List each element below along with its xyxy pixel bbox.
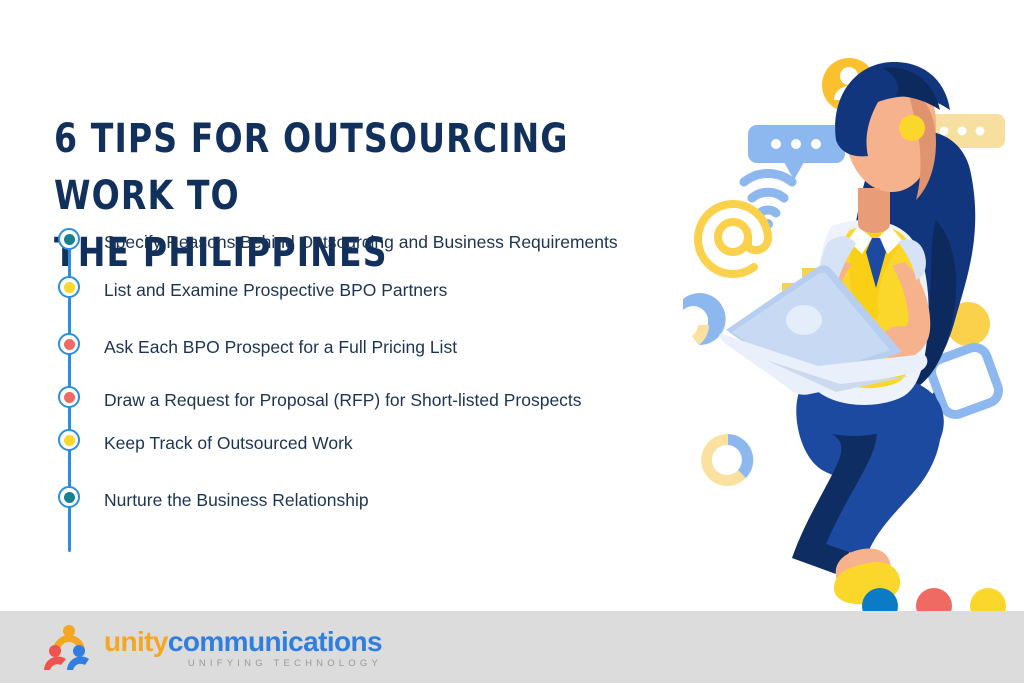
timeline-bullet-wrapper (54, 429, 84, 451)
brand-word-unity: unity (104, 626, 168, 657)
list-item-label: Keep Track of Outsourced Work (104, 429, 353, 457)
timeline-bullet-1[interactable] (58, 228, 80, 250)
unity-logo-mark-icon (44, 625, 94, 671)
timeline-bullet-6[interactable] (58, 486, 80, 508)
brand-logo-text: unitycommunications UNIFYING TECHNOLOGY (104, 627, 382, 669)
bullet-dot-icon (64, 492, 75, 503)
at-sign-icon (698, 204, 768, 274)
list-item-label: Ask Each BPO Prospect for a Full Pricing… (104, 333, 457, 361)
laptop-logo (786, 305, 822, 335)
hair-tie (899, 115, 925, 141)
timeline-bullet-4[interactable] (58, 386, 80, 408)
timeline-bullet-wrapper (54, 228, 84, 250)
bullet-dot-icon (64, 392, 75, 403)
list-item: Specify Reasons Behind Outsourcing and B… (54, 228, 674, 256)
timeline-bullet-wrapper (54, 486, 84, 508)
bullet-dot-icon (64, 339, 75, 350)
tips-timeline-list: Specify Reasons Behind Outsourcing and B… (54, 228, 674, 514)
bullet-dot-icon (64, 435, 75, 446)
timeline-bullet-5[interactable] (58, 429, 80, 451)
timeline-bullet-wrapper (54, 276, 84, 298)
brand-wordmark: unitycommunications (104, 627, 382, 657)
list-item-label: List and Examine Prospective BPO Partner… (104, 276, 447, 304)
bullet-dot-icon (64, 282, 75, 293)
timeline-bullet-wrapper (54, 333, 84, 355)
list-item: Keep Track of Outsourced Work (54, 429, 674, 457)
wifi-icon (744, 173, 792, 229)
timeline-bullet-3[interactable] (58, 333, 80, 355)
brand-word-communications: communications (168, 626, 382, 657)
footer-bar: unitycommunications UNIFYING TECHNOLOGY (0, 611, 1024, 683)
list-item: List and Examine Prospective BPO Partner… (54, 276, 674, 304)
infographic-canvas: 6 Tips for Outsourcing Work to The Phili… (0, 0, 1024, 683)
title-line-1: 6 Tips for Outsourcing Work to (54, 116, 569, 219)
timeline-bullet-2[interactable] (58, 276, 80, 298)
brand-logo[interactable]: unitycommunications UNIFYING TECHNOLOGY (44, 625, 382, 671)
list-item-label: Nurture the Business Relationship (104, 486, 369, 514)
list-item: Draw a Request for Proposal (RFP) for Sh… (54, 386, 674, 414)
brand-tagline: UNIFYING TECHNOLOGY (104, 658, 382, 669)
timeline-bullet-wrapper (54, 386, 84, 408)
donut-chart-yellow-icon (701, 434, 753, 486)
donut-chart-blue-icon (683, 293, 726, 345)
list-item-label: Draw a Request for Proposal (RFP) for Sh… (104, 386, 582, 414)
neck (858, 188, 890, 233)
bullet-dot-icon (64, 234, 75, 245)
hero-illustration (636, 30, 1024, 615)
list-item: Nurture the Business Relationship (54, 486, 674, 514)
list-item-label: Specify Reasons Behind Outsourcing and B… (104, 228, 618, 256)
list-item: Ask Each BPO Prospect for a Full Pricing… (54, 333, 674, 361)
